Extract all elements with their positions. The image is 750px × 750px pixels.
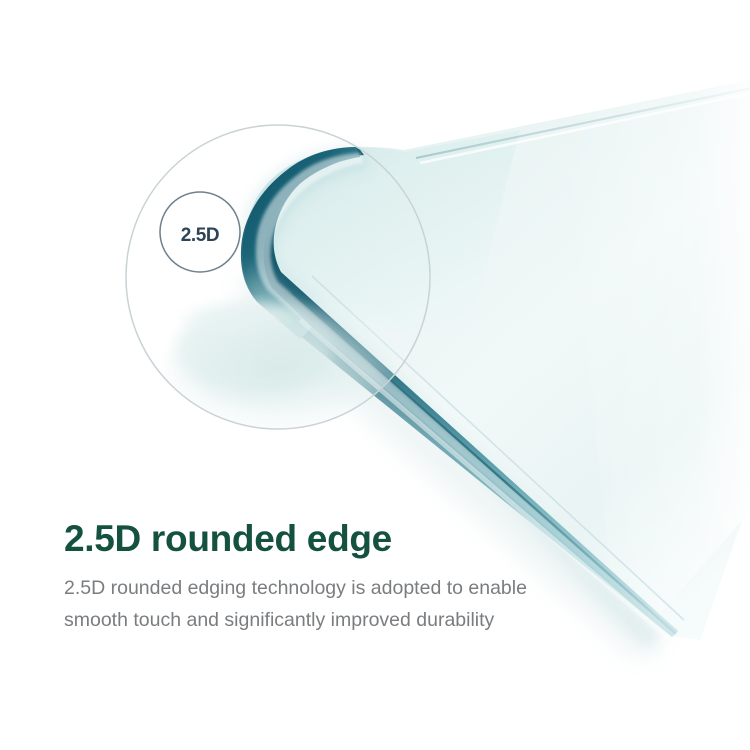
magnifier-callout-label: 2.5D [181,225,220,246]
feature-text-block: 2.5D rounded edge 2.5D rounded edging te… [64,518,684,637]
feature-headline: 2.5D rounded edge [64,518,684,559]
tempered-glass-illustration: 2.5D [0,0,750,750]
description-line-2: smooth touch and significantly improved … [64,605,544,637]
description-line-1: 2.5D rounded edging technology is adopte… [64,573,544,605]
feature-description: 2.5D rounded edging technology is adopte… [64,573,544,636]
product-feature-image: 2.5D 2.5D rounded edge 2.5D rounded edgi… [0,0,750,750]
